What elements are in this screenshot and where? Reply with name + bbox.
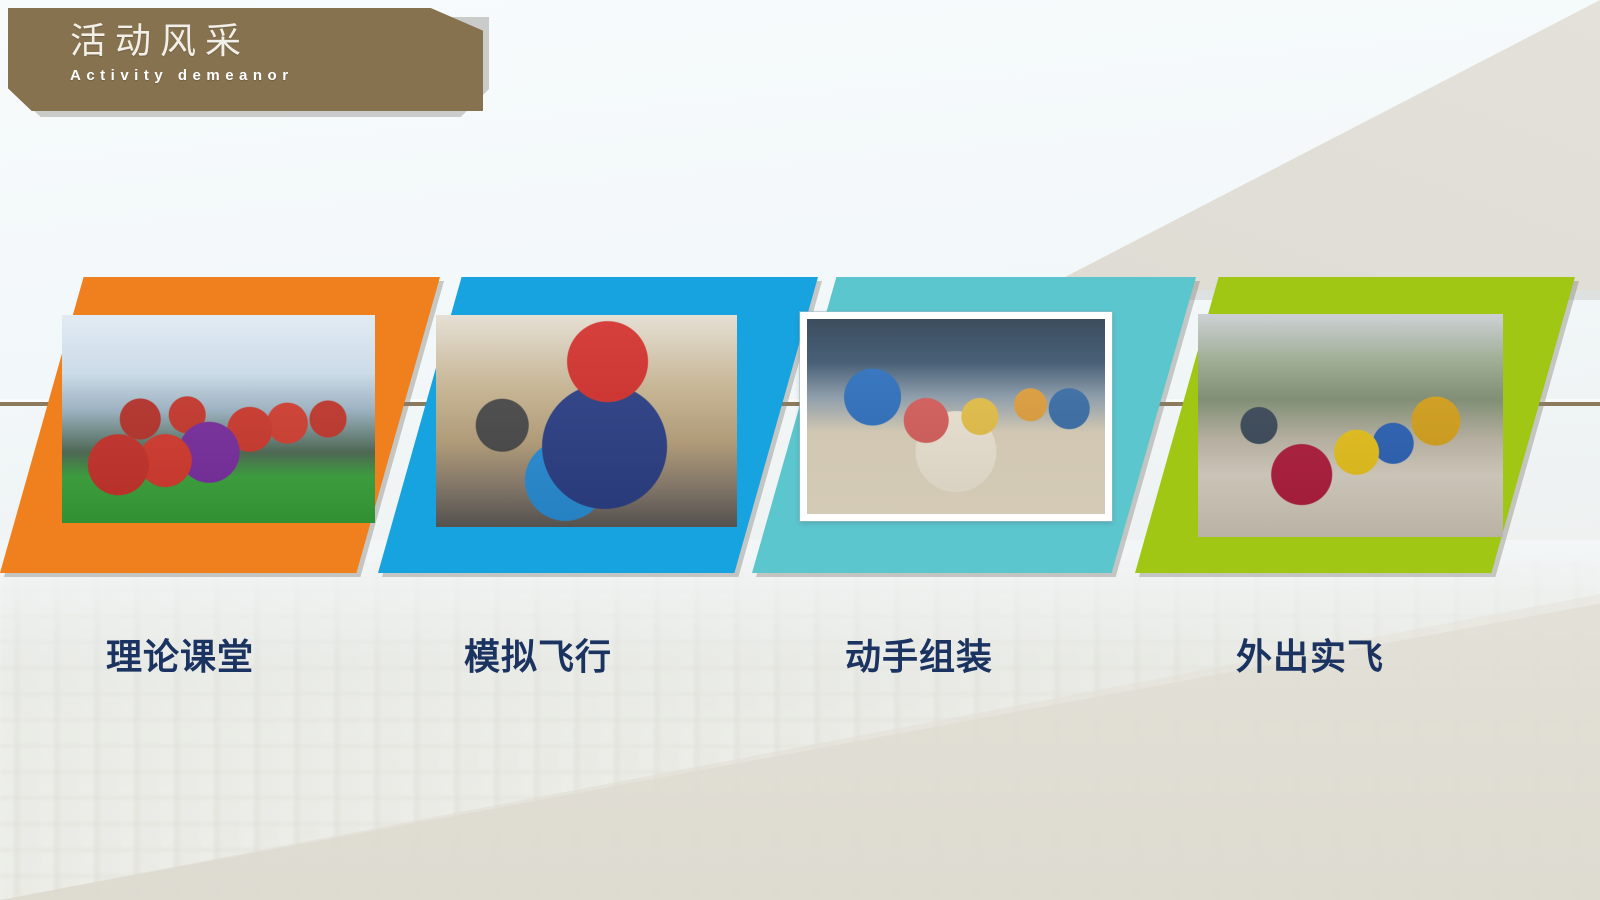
photo-overlay-1 [62, 315, 375, 523]
caption-outdoor-flight: 外出实飞 [1236, 628, 1384, 680]
photo-flight-simulator [436, 315, 737, 527]
photo-overlay-4 [1198, 314, 1503, 537]
photo-overlay-3 [807, 319, 1105, 514]
caption-theory-classroom: 理论课堂 [106, 628, 254, 680]
photo-hands-on-assembly [800, 312, 1112, 521]
panel-row [0, 0, 1600, 900]
photo-overlay-2 [436, 315, 737, 527]
caption-simulated-flight: 模拟飞行 [464, 628, 612, 680]
caption-hands-on-assembly: 动手组装 [845, 628, 993, 680]
photo-outdoor-flying [1198, 314, 1503, 537]
photo-classroom-lecture [62, 315, 375, 523]
slide-canvas: 活动风采 Activity demeanor 理论课堂 模拟飞行 动 [0, 0, 1600, 900]
